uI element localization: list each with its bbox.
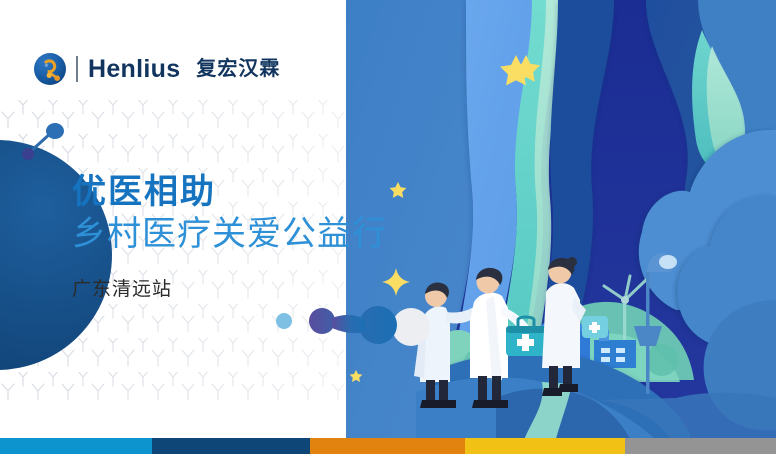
headline-block: 优医相助 乡村医疗关爱公益行 广东清远站 xyxy=(72,172,452,301)
page-title-line2: 乡村医疗关爱公益行 xyxy=(72,214,452,255)
henlius-molecule-logo-icon xyxy=(33,52,67,86)
page-subtitle: 广东清远站 xyxy=(72,274,452,301)
decor-molecule-dumbbell xyxy=(270,295,445,355)
stripe-gray xyxy=(625,438,776,454)
presentation-slide: Henlius 复宏汉霖 优医相助 乡村医疗关爱公益行 广东清远站 xyxy=(0,0,776,454)
stripe-cyan xyxy=(0,438,152,454)
brand-logo[interactable]: Henlius 复宏汉霖 xyxy=(33,50,280,88)
stripe-orange xyxy=(310,438,465,454)
stripe-navy xyxy=(152,438,310,454)
brand-name-cn: 复宏汉霖 xyxy=(196,59,280,79)
logo-divider xyxy=(76,56,78,82)
brand-name-en: Henlius xyxy=(88,57,180,82)
ghost-circle xyxy=(392,308,430,346)
stripe-gold xyxy=(465,438,625,454)
page-title-line1: 优医相助 xyxy=(72,172,452,212)
molecule-dumbbell-icon xyxy=(18,120,74,164)
small-dot xyxy=(276,313,292,329)
bottom-color-bar xyxy=(0,438,776,454)
